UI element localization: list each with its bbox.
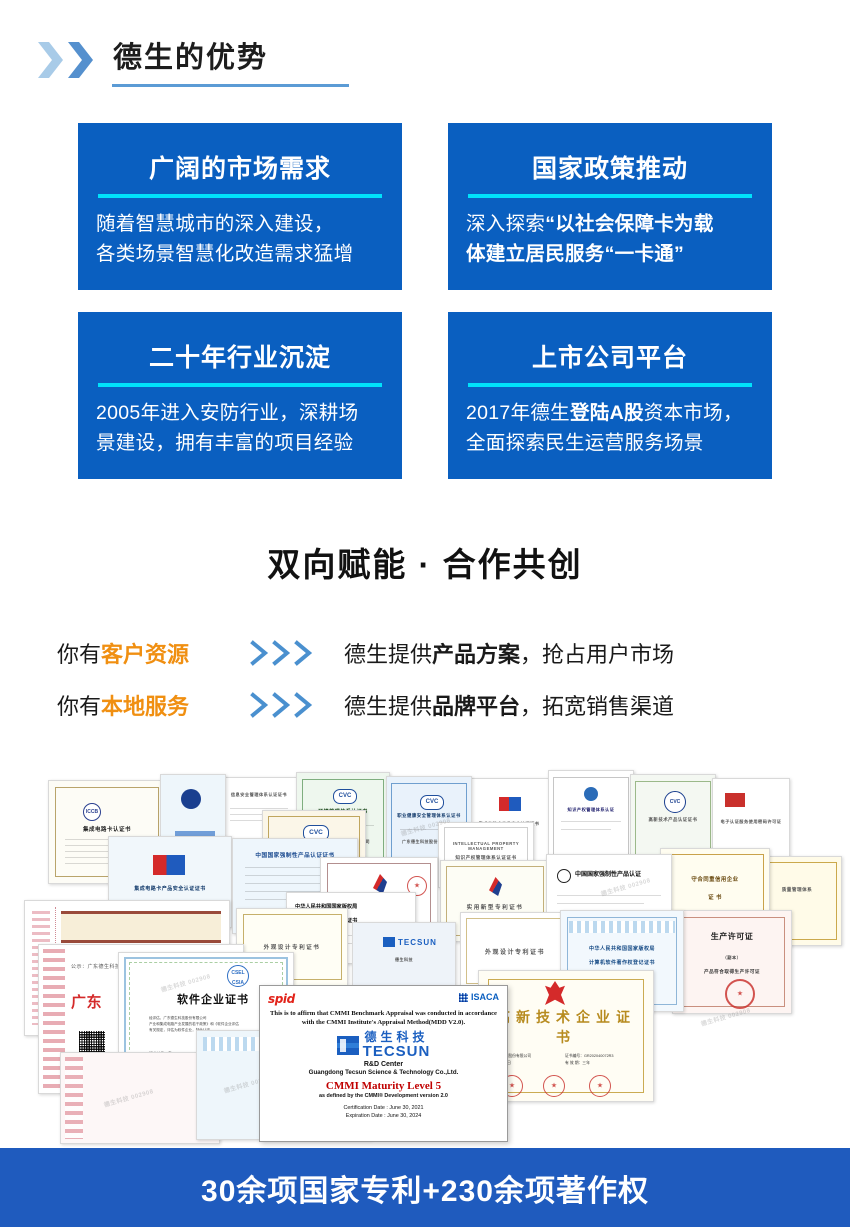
title-underline (112, 84, 349, 87)
card-title: 国家政策推动 (448, 149, 772, 185)
cert-label: 集成电路卡产品安全认证证书 (119, 885, 222, 892)
advantage-card-grid: 广阔的市场需求 随着智慧城市的深入建设， 各类场景智慧化改造需求猛增 国家政策推… (78, 123, 772, 479)
cert-label-2: 证 书 (670, 893, 761, 901)
cert-label: INTELLECTUAL PROPERTY MANAGEMENT (447, 841, 526, 851)
cert-label: 电子认证服务使用密码许可证 (719, 819, 783, 825)
cmmi-header: spid ISACA (268, 992, 499, 1006)
synergy-right-suffix: ，抢占用户市场 (520, 642, 674, 667)
footer-banner: 30余项国家专利+230余项著作权 (0, 1148, 850, 1227)
section-header: 德生的优势 (0, 0, 850, 105)
card-divider (98, 194, 382, 198)
cmmi-certificate: spid ISACA This is to affirm that CMMI B… (259, 985, 508, 1142)
certificate-item: TECSUN 德生科技 (352, 922, 456, 986)
card-title: 广阔的市场需求 (78, 149, 402, 185)
cert-label: 生产许可证 (682, 931, 781, 942)
cert-label: 质量管理体系 (760, 887, 834, 893)
cert-label: 外观设计专利证书 (246, 943, 338, 951)
card-body-normal: 深入探索 (466, 213, 545, 235)
advantage-card-market: 广阔的市场需求 随着智慧城市的深入建设， 各类场景智慧化改造需求猛增 (78, 123, 402, 290)
cert-brand-badge: ICCB (83, 803, 101, 821)
card-body-normal-b: 资本市场， (644, 402, 743, 424)
chevron-right-icon-dark (66, 40, 93, 80)
chevron-group (36, 40, 93, 80)
synergy-rows: 你有客户资源 德生提供产品方案，抢占用户市场 你有本地服务 德生提供品牌平台，拓… (0, 627, 850, 731)
chevron-right-icon-1 (250, 640, 270, 666)
card-divider (98, 383, 382, 387)
card-body-normal-a: 2017年德生 (466, 402, 570, 424)
tecsun-mark-icon (337, 1036, 359, 1055)
synergy-arrow-group (232, 692, 344, 718)
synergy-right-bold: 产品方案 (432, 642, 520, 667)
card-body-line1: 随着智慧城市的深入建设， (96, 209, 388, 239)
cert-label-2: 计算机软件著作权登记证书 (571, 959, 674, 966)
card-body-bold-1: “以社会保障卡为载 (545, 213, 713, 235)
chevron-right-icon-2 (272, 640, 292, 666)
cmmi-dates: Certification Date : June 30, 2021 Expir… (268, 1104, 499, 1120)
cert-brand-badge: CVC (664, 791, 686, 813)
cert-seal (589, 1075, 611, 1097)
cert-label: 实用新型专利证书 (450, 903, 541, 911)
chevron-right-icon-3 (294, 640, 314, 666)
synergy-row-local-service: 你有本地服务 德生提供品牌平台，拓宽销售渠道 (0, 679, 850, 731)
synergy-left-highlight: 客户资源 (101, 642, 189, 667)
synergy-row-customer: 你有客户资源 德生提供产品方案，抢占用户市场 (0, 627, 850, 679)
card-body-bold-2: 体建立居民服务“一卡通” (466, 243, 684, 265)
synergy-left-prefix: 你有 (57, 694, 101, 719)
cert-label: 外观设计专利证书 (470, 947, 561, 956)
advantage-card-listed: 上市公司平台 2017年德生登陆A股资本市场， 全面探索民生运营服务场景 (448, 312, 772, 479)
synergy-right-bold: 品牌平台 (432, 694, 520, 719)
isaca-logo: ISACA (459, 992, 499, 1002)
page-title: 德生的优势 (113, 38, 268, 78)
cert-sub: （副本） (682, 955, 781, 961)
chevron-right-icon-3 (294, 692, 314, 718)
synergy-right-suffix: ，拓宽销售渠道 (520, 694, 674, 719)
advantage-card-experience: 二十年行业沉淀 2005年进入安防行业，深耕场 景建设，拥有丰富的项目经验 (78, 312, 402, 479)
certificate-item: 生产许可证 （副本） 产品符合取得生产许可证 (672, 910, 792, 1014)
synergy-title: 双向赋能 · 合作共创 (0, 538, 850, 586)
synergy-right-text: 德生提供品牌平台，拓宽销售渠道 (344, 689, 674, 721)
synergy-left-text: 你有本地服务 (57, 689, 232, 721)
cmmi-rd-center: R&D Center (268, 1061, 499, 1068)
card-divider (468, 194, 752, 198)
synergy-left-highlight: 本地服务 (101, 694, 189, 719)
cert-brand-badge: CSELCSIA (227, 965, 249, 987)
chevron-right-icon-2 (272, 692, 292, 718)
tecsun-brand-en: TECSUN (363, 1044, 431, 1059)
cert-label: 高新技术产品认证证书 (638, 817, 709, 823)
card-body-line2: 全面探索民生运营服务场景 (466, 428, 758, 458)
cert-label: 信息安全管理体系认证证书 (227, 792, 291, 798)
card-body-line2: 景建设，拥有丰富的项目经验 (96, 428, 388, 458)
cert-label: 守合同重信用企业 (670, 875, 761, 883)
synergy-right-prefix: 德生提供 (344, 642, 432, 667)
cert-label: 德生科技 (361, 957, 447, 963)
tecsun-wordmark: 德生科技 TECSUN (363, 1031, 431, 1059)
collage-watermark: 德生科技 002908 (103, 1086, 155, 1109)
card-title: 二十年行业沉淀 (78, 338, 402, 374)
synergy-right-prefix: 德生提供 (344, 694, 432, 719)
card-body-line1: 深入探索“以社会保障卡为载 (466, 209, 758, 239)
cert-label: 高新技术企业证书 (493, 1007, 639, 1047)
cvc-badge-icon: CVC (420, 795, 444, 810)
tecsun-brand-cn: 德生科技 (363, 1031, 431, 1043)
card-body: 2005年进入安防行业，深耕场 景建设，拥有丰富的项目经验 (96, 398, 388, 458)
cmmi-company: Guangdong Tecsun Science & Technology Co… (268, 1069, 499, 1076)
card-body-line2: 体建立居民服务“一卡通” (466, 239, 758, 269)
cert-label: 知识产权管理体系认证 (556, 807, 627, 813)
cert-seal (725, 979, 755, 1009)
isaca-mark-icon (459, 993, 468, 1002)
cmmi-defined-by: as defined by the CMMI® Development vers… (268, 1093, 499, 1099)
footer-text: 30余项国家专利+230余项著作权 (201, 1166, 649, 1210)
advantage-card-policy: 国家政策推动 深入探索“以社会保障卡为载 体建立居民服务“一卡通” (448, 123, 772, 290)
synergy-left-text: 你有客户资源 (57, 637, 232, 669)
card-body: 随着智慧城市的深入建设， 各类场景智慧化改造需求猛增 (96, 209, 388, 269)
cert-seal (543, 1075, 565, 1097)
spid-logo: spid (268, 992, 295, 1006)
card-body-line1: 2005年进入安防行业，深耕场 (96, 398, 388, 428)
isaca-label: ISACA (471, 992, 499, 1002)
chevron-right-icon-light (36, 40, 63, 80)
cert-label: 集成电路卡认证书 (58, 825, 155, 833)
cmmi-cert-date: Certification Date : June 30, 2021 (268, 1104, 499, 1112)
card-body: 2017年德生登陆A股资本市场， 全面探索民生运营服务场景 (466, 398, 758, 458)
cmmi-exp-date: Expiration Date : June 30, 2024 (268, 1112, 499, 1120)
synergy-right-text: 德生提供产品方案，抢占用户市场 (344, 637, 674, 669)
card-divider (468, 383, 752, 387)
cmmi-affirmation-text: This is to affirm that CMMI Benchmark Ap… (268, 1009, 499, 1027)
card-body-line1: 2017年德生登陆A股资本市场， (466, 398, 758, 428)
cert-label: 职业健康安全管理体系认证书 (394, 813, 465, 819)
chevron-right-icon-1 (250, 692, 270, 718)
card-body-bold: 登陆A股 (570, 402, 644, 424)
tecsun-logo: 德生科技 TECSUN (268, 1031, 499, 1059)
cert-sub-2: 产品符合取得生产许可证 (682, 969, 781, 975)
cert-label: 中华人民共和国国家版权局 (571, 945, 674, 952)
cmmi-maturity-level: CMMI Maturity Level 5 (268, 1080, 499, 1092)
card-title: 上市公司平台 (448, 338, 772, 374)
synergy-arrow-group (232, 640, 344, 666)
card-body: 深入探索“以社会保障卡为载 体建立居民服务“一卡通” (466, 209, 758, 269)
synergy-left-prefix: 你有 (57, 642, 101, 667)
cvc-badge-icon: CVC (333, 789, 357, 804)
card-body-line2: 各类场景智慧化改造需求猛增 (96, 239, 388, 269)
